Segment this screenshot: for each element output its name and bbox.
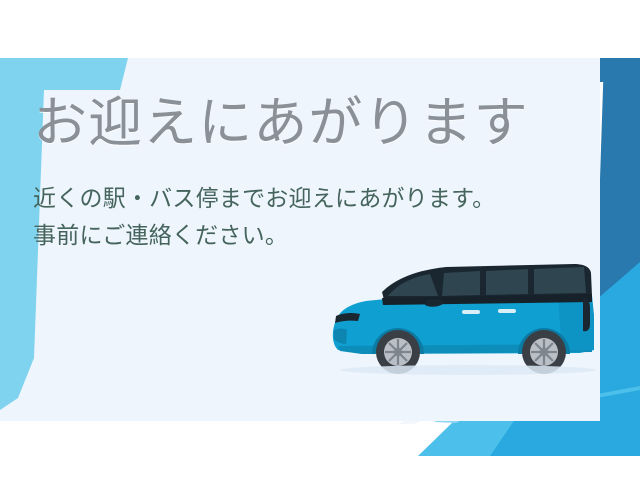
car-handle-rear (498, 309, 516, 313)
subcopy-line-2: 事前にご連絡ください。 (33, 217, 553, 254)
subcopy: 近くの駅・バス停までお迎えにあがります。 事前にご連絡ください。 (33, 180, 553, 255)
headline: お迎えにあがります (33, 92, 553, 156)
car-rear-window-shape (534, 267, 586, 294)
car-middle-window-shape (486, 269, 528, 295)
pickup-service-banner: お迎えにあがります 近くの駅・バス停までお迎えにあがります。 事前にご連絡くださ… (0, 0, 640, 480)
minivan-illustration (322, 258, 614, 378)
car-ground-shadow (340, 365, 596, 375)
car-front-window-shape (442, 271, 480, 296)
text-block: お迎えにあがります 近くの駅・バス停までお迎えにあがります。 事前にご連絡くださ… (33, 92, 553, 254)
subcopy-line-1: 近くの駅・バス停までお迎えにあがります。 (33, 180, 553, 217)
car-taillight-shape (583, 298, 590, 331)
car-handle-front (462, 310, 480, 314)
